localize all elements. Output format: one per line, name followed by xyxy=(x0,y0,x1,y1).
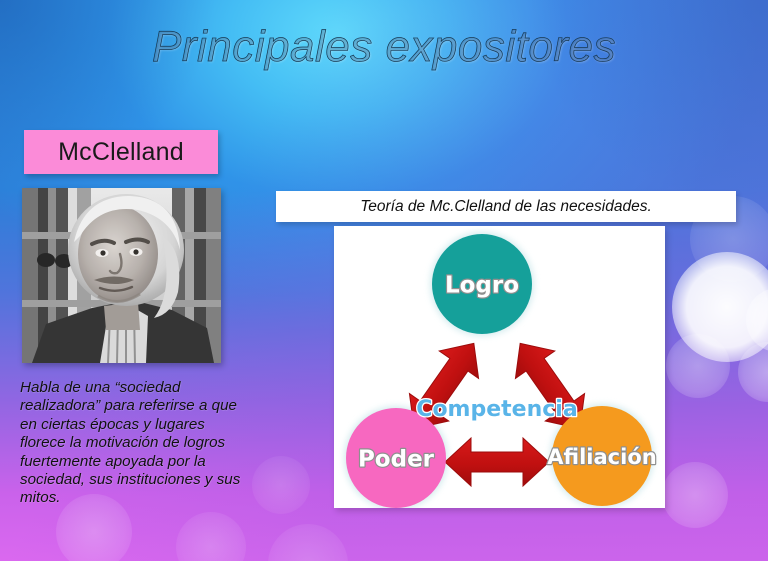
portrait-photo-image xyxy=(22,188,221,363)
diagram-canvas: Logro Poder Afiliación Competencia xyxy=(334,226,665,508)
diagram-caption-box: Teoría de Mc.Clelland de las necesidades… xyxy=(276,191,736,222)
node-afiliacion-label: Afiliación xyxy=(547,445,656,469)
description-paragraph: Habla de una “sociedad realizadora” para… xyxy=(20,379,245,508)
node-poder-label: Poder xyxy=(358,447,435,473)
needs-theory-diagram: Logro Poder Afiliación Competencia xyxy=(334,226,665,508)
name-label-text: McClelland xyxy=(58,138,184,167)
slide-canvas: Principales expositores McClelland xyxy=(0,0,768,561)
page-title: Principales expositores xyxy=(0,22,768,72)
node-logro-label: Logro xyxy=(445,273,519,299)
diagram-caption-text: Teoría de Mc.Clelland de las necesidades… xyxy=(360,198,652,216)
name-label-box: McClelland xyxy=(24,130,218,174)
portrait-photo xyxy=(22,188,221,363)
diagram-center-label: Competencia xyxy=(416,397,577,422)
